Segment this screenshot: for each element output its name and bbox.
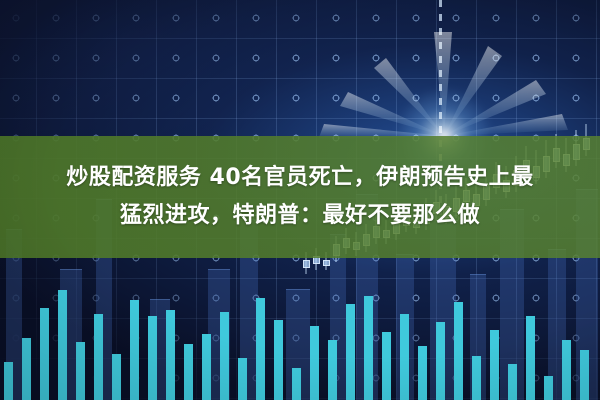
- screenshot-canvas: 炒股配资服务 40名官员死亡，伊朗预告史上最 猛烈进攻，特朗普：最好不要那么做: [0, 0, 600, 400]
- headline-banner: 炒股配资服务 40名官员死亡，伊朗预告史上最 猛烈进攻，特朗普：最好不要那么做: [0, 136, 600, 258]
- page-title: 炒股配资服务 40名官员死亡，伊朗预告史上最 猛烈进攻，特朗普：最好不要那么做: [30, 159, 570, 235]
- headline-line-2: 猛烈进攻，特朗普：最好不要那么做: [30, 197, 570, 235]
- headline-line-1: 炒股配资服务 40名官员死亡，伊朗预告史上最: [30, 159, 570, 197]
